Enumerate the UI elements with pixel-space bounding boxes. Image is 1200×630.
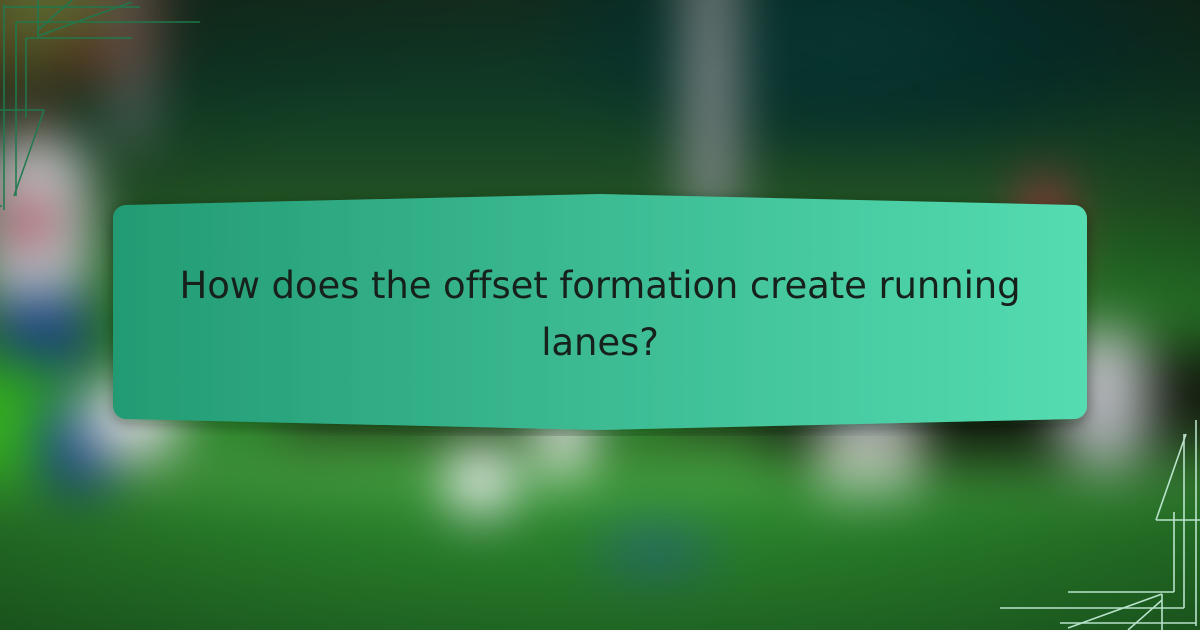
question-card-text-wrap: How does the offset formation create run… (100, 188, 1100, 436)
question-text: How does the offset formation create run… (170, 258, 1030, 372)
social-card-image: How does the offset formation create run… (0, 0, 1200, 630)
question-card: How does the offset formation create run… (100, 188, 1100, 436)
